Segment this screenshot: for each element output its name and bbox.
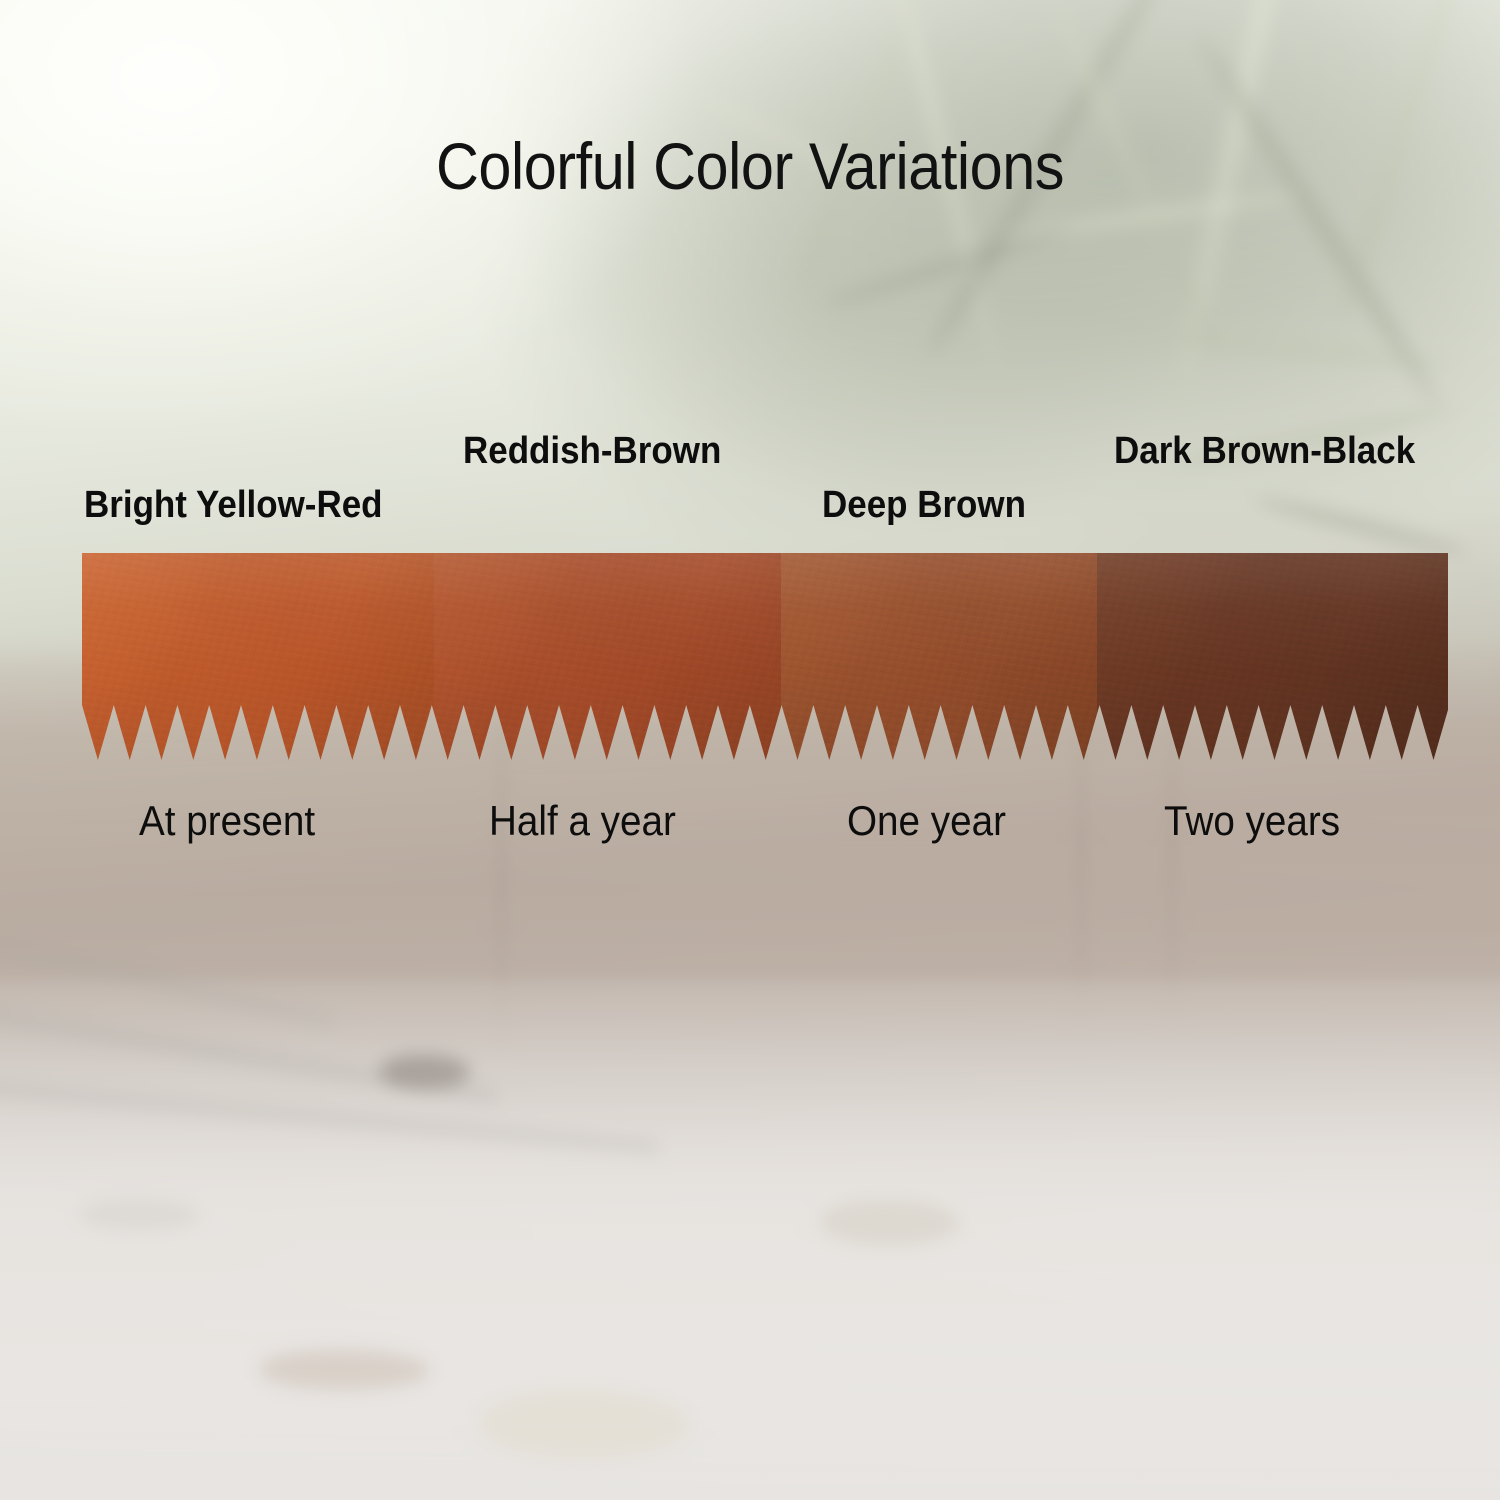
infographic-canvas: Colorful Color Variations Bright Yellow-…: [0, 0, 1500, 1500]
color-label-1: Bright Yellow-Red: [84, 486, 382, 524]
swatch-haze: [82, 553, 434, 760]
color-swatch-strip: [82, 553, 1448, 760]
swatch-haze: [781, 553, 1097, 760]
color-swatch-4: [1097, 553, 1448, 760]
swatch-haze: [434, 553, 781, 760]
color-swatch-1: [82, 553, 434, 760]
page-title: Colorful Color Variations: [75, 133, 1425, 199]
color-swatch-2: [434, 553, 781, 760]
color-label-4: Dark Brown-Black: [1114, 432, 1415, 470]
time-label-3: One year: [847, 800, 1006, 842]
color-swatch-3: [781, 553, 1097, 760]
time-label-4: Two years: [1164, 800, 1340, 842]
color-label-3: Deep Brown: [822, 486, 1026, 524]
color-label-2: Reddish-Brown: [463, 432, 721, 470]
time-label-2: Half a year: [489, 800, 676, 842]
swatch-haze: [1097, 553, 1448, 760]
time-label-1: At present: [139, 800, 315, 842]
